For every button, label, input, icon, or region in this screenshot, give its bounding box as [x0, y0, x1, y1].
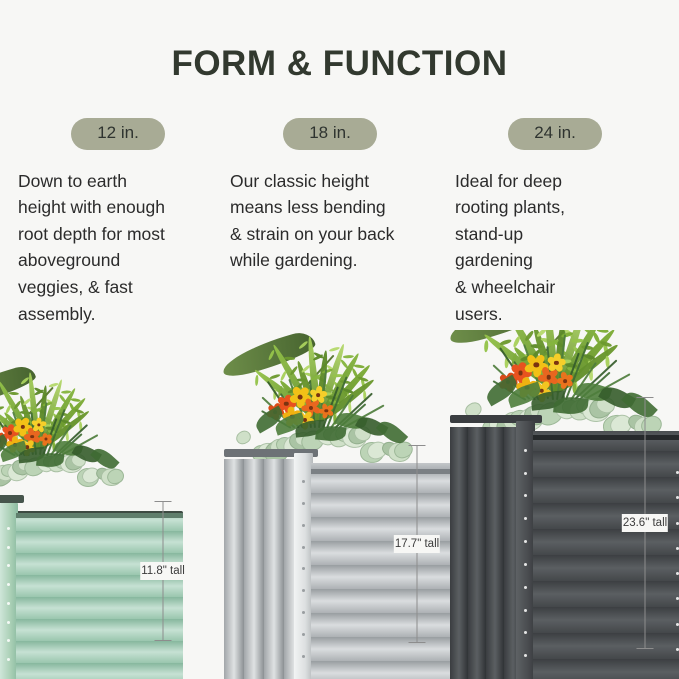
frond-leaflet: [292, 392, 300, 403]
frond-leaflet: [26, 405, 36, 411]
frond-leaflet: [32, 407, 42, 414]
ivy-leaf: [52, 453, 71, 471]
flower-center: [290, 415, 294, 419]
flower-petal: [509, 379, 518, 386]
frond-leaflet: [3, 418, 8, 428]
rivet-column-24in: [522, 421, 529, 679]
broad-leaf: [530, 390, 565, 410]
frond-leaflet: [300, 399, 309, 410]
frond-leaflet: [47, 429, 57, 435]
feature-column-18in: 18 in. Our classic height means less ben…: [230, 118, 430, 274]
frond-leaflet: [291, 385, 302, 390]
flower-petal: [303, 410, 313, 421]
grass-blade: [514, 361, 541, 401]
frond-leaflet: [525, 351, 538, 356]
frond-leaflet: [288, 397, 294, 408]
flower-petal: [302, 421, 308, 430]
flower-petal: [27, 445, 36, 453]
frond-leaflet: [593, 332, 602, 345]
flower-petal: [24, 434, 32, 441]
flower-petal: [32, 424, 41, 433]
frond-leaflet: [333, 380, 342, 391]
grass-blade: [499, 347, 536, 400]
flower-petal: [276, 395, 288, 406]
feature-column-12in: 12 in. Down to earth height with enough …: [18, 118, 218, 327]
banana-leaf: [0, 363, 39, 409]
frond-leaflet: [289, 366, 298, 377]
dimension-line-18in: 17.7" tall: [400, 445, 434, 643]
frond-leaflet: [38, 429, 48, 436]
flower-petal: [553, 353, 561, 363]
dimension-cap-bottom-24in: [637, 648, 654, 649]
frond-leaflet: [308, 393, 319, 401]
badge-wrap-24in: 24 in.: [455, 118, 655, 150]
broad-leaf: [0, 434, 10, 459]
flower-petal: [283, 403, 293, 414]
palm-frond: [542, 330, 560, 392]
frond-leaflet: [30, 424, 40, 431]
flower-center: [44, 438, 47, 441]
broad-leaf: [355, 412, 388, 440]
frond-leaflet: [540, 336, 553, 343]
frond-leaflet: [596, 330, 609, 333]
frond-leaflet: [303, 387, 314, 397]
frond-leaflet: [552, 373, 565, 380]
frond-leaflet: [267, 350, 275, 361]
flower-petal: [531, 388, 542, 398]
frond-leaflet: [48, 382, 58, 388]
flower-petal: [276, 401, 288, 412]
flower-petal: [7, 423, 16, 433]
flower-petal: [26, 428, 34, 437]
flower-petal: [541, 388, 552, 398]
flower-petal: [538, 374, 548, 382]
frond-leaflet: [315, 375, 326, 383]
leaf-stem: [543, 330, 575, 354]
frond-leaflet: [580, 345, 593, 350]
flower-center: [303, 418, 307, 422]
flower-petal: [14, 417, 25, 428]
frond-leaflet: [511, 352, 518, 365]
frond-leaflet: [46, 432, 54, 442]
flower-petal: [546, 356, 557, 366]
flower-petal: [0, 438, 1, 446]
palm-frond: [315, 350, 329, 421]
flower-petal: [541, 366, 552, 378]
frond-leaflet: [569, 374, 578, 387]
frond-leaflet: [354, 364, 365, 369]
flower-petal: [543, 378, 552, 389]
grass-blade: [579, 372, 610, 400]
flower-petal: [11, 430, 19, 436]
frond-leaflet: [60, 390, 70, 394]
dimension-line-12in: 11.8" tall: [146, 501, 180, 641]
frond-leaflet: [78, 421, 82, 431]
frond-leaflet: [362, 390, 366, 401]
badge-wrap-12in: 12 in.: [18, 118, 218, 150]
frond-leaflet: [342, 387, 354, 394]
broad-leaf: [91, 445, 120, 473]
flower-petal: [547, 375, 559, 386]
flower-petal: [20, 417, 31, 428]
flower-center: [37, 423, 40, 426]
flower-petal: [42, 439, 48, 447]
flower-petal: [523, 362, 537, 374]
feature-description-24in: Ideal for deep rooting plants, stand-up …: [455, 168, 655, 328]
frond-leaflet: [300, 363, 311, 373]
grass-blade: [561, 353, 580, 400]
frond-leaflet: [513, 335, 522, 348]
frond-leaflet: [21, 438, 26, 448]
planter-end-panel-24in: [450, 427, 524, 679]
grass-blade: [280, 393, 304, 428]
frond-leaflet: [32, 437, 42, 441]
flower-petal: [1, 431, 12, 441]
ivy-leaf: [11, 459, 32, 478]
frond-leaflet: [74, 408, 84, 414]
ivy-leaf: [0, 463, 16, 483]
frond-leaflet: [540, 370, 553, 377]
frond-leaflet: [526, 359, 535, 372]
rivet-column-18in: [300, 453, 307, 679]
palm-frond: [18, 394, 41, 450]
frond-leaflet: [15, 423, 22, 433]
palm-frond: [503, 330, 559, 394]
frond-leaflet: [581, 353, 590, 366]
flower-petal: [297, 410, 307, 421]
planter-box-18in: [222, 441, 472, 679]
frond-leaflet: [310, 373, 321, 381]
grass-blade: [326, 376, 347, 428]
flower-petal: [32, 434, 42, 443]
ivy-leaf: [94, 466, 112, 482]
flower-petal: [321, 403, 329, 412]
grass-blade: [493, 380, 527, 401]
grass-blade: [306, 391, 312, 428]
flower-petal: [295, 417, 305, 426]
frond-leaflet: [522, 364, 529, 377]
frond-leaflet: [328, 399, 340, 406]
flower-petal: [564, 373, 574, 383]
grass-blade: [57, 433, 82, 456]
frond-leaflet: [273, 389, 277, 400]
frond-leaflet: [600, 341, 613, 348]
flower-petal: [14, 443, 24, 453]
palm-frond: [27, 372, 41, 449]
flower-petal: [0, 433, 1, 442]
page-title: FORM & FUNCTION: [0, 44, 679, 84]
frond-leaflet: [8, 392, 18, 396]
flower-petal: [25, 439, 34, 449]
frond-leaflet: [565, 362, 578, 367]
flower-center: [540, 389, 545, 394]
grass-blade: [493, 364, 531, 400]
flower-petal: [322, 411, 329, 419]
flower-petal: [306, 408, 314, 418]
frond-leaflet: [25, 419, 35, 428]
palm-frond: [0, 400, 42, 451]
frond-leaflet: [565, 370, 576, 382]
frond-leaflet: [305, 401, 317, 408]
frond-leaflet: [65, 432, 69, 442]
frond-leaflet: [63, 425, 68, 435]
frond-leaflet: [346, 393, 352, 404]
flower-petal: [18, 445, 27, 453]
frond-leaflet: [562, 350, 574, 361]
flower-petal: [0, 432, 5, 441]
palm-frond: [39, 409, 91, 451]
flower-center: [534, 362, 539, 367]
flower-petal: [521, 369, 531, 377]
palm-frond: [295, 360, 321, 422]
frond-leaflet: [42, 434, 52, 443]
flower-petal: [8, 444, 17, 454]
broad-leaf: [0, 440, 28, 461]
frond-leaflet: [315, 405, 327, 411]
flower-center: [563, 379, 567, 383]
dimension-label-24in: 23.6" tall: [622, 514, 668, 532]
ivy-leaf: [80, 465, 103, 487]
dimension-label-18in: 17.7" tall: [394, 535, 440, 553]
palm-frond: [552, 330, 568, 392]
ivy-leaf: [69, 452, 87, 469]
flower-petal: [532, 366, 541, 378]
frond-leaflet: [13, 400, 21, 410]
flower-petal: [7, 433, 16, 443]
flower-petal: [310, 393, 320, 403]
frond-leaflet: [301, 396, 312, 401]
frond-leaflet: [11, 419, 21, 425]
flower-petal: [273, 403, 281, 413]
grass-blade: [584, 373, 631, 400]
flower-petal: [12, 424, 23, 434]
grass-blade: [318, 369, 327, 428]
height-badge-24in: 24 in.: [508, 118, 602, 150]
frond-leaflet: [536, 330, 548, 338]
feature-column-24in: 24 in. Ideal for deep rooting plants, st…: [455, 118, 655, 327]
flower-petal: [302, 405, 311, 412]
flower-petal: [297, 397, 305, 407]
grass-blade: [575, 360, 618, 400]
product-image-18in: 17.7" tall: [222, 335, 472, 679]
palm-frond: [306, 336, 322, 422]
flower-petal: [0, 438, 7, 444]
flower-petal: [325, 404, 334, 413]
flower-petal: [310, 405, 321, 415]
feature-description-18in: Our classic height means less bending & …: [230, 168, 430, 274]
flower-petal: [316, 394, 325, 404]
frond-leaflet: [559, 359, 572, 364]
flower-petal: [564, 379, 574, 388]
flower-petal: [290, 386, 302, 399]
palm-frond: [2, 411, 39, 451]
flower-petal: [315, 386, 322, 394]
grass-blade: [61, 434, 99, 456]
frond-leaflet: [317, 398, 328, 406]
frond-leaflet: [564, 330, 576, 338]
height-badge-18in: 18 in.: [283, 118, 377, 150]
frond-leaflet: [530, 348, 541, 360]
frond-leaflet: [360, 378, 366, 389]
frond-leaflet: [52, 413, 60, 423]
flower-petal: [289, 394, 301, 405]
flower-petal: [36, 417, 42, 425]
flower-center: [525, 385, 530, 390]
leaf-stem: [307, 355, 335, 386]
broad-leaf: [315, 424, 346, 442]
palm-frond: [270, 343, 320, 422]
flower-center: [13, 443, 17, 447]
product-image-12in: 11.8" tall: [0, 355, 183, 679]
grass-blade: [12, 411, 30, 456]
flower-petal: [519, 387, 531, 400]
grass-blade: [4, 424, 25, 456]
flower-petal: [11, 435, 19, 444]
frond-leaflet: [296, 378, 307, 382]
frond-leaflet: [332, 409, 338, 420]
ivy-leaf: [101, 467, 123, 487]
dimension-cap-bottom-12in: [155, 640, 172, 641]
flower-center: [518, 371, 523, 376]
palm-frond: [36, 385, 49, 449]
palm-frond: [553, 330, 589, 393]
flower-center: [20, 425, 24, 429]
frond-leaflet: [555, 366, 568, 375]
flower-petal: [522, 376, 531, 388]
frond-leaflet: [18, 415, 26, 425]
frond-leaflet: [572, 378, 579, 391]
frond-leaflet: [284, 357, 295, 361]
flower-petal: [291, 409, 303, 420]
flower-petal: [505, 382, 514, 392]
leaf-stem: [28, 387, 53, 415]
frond-leaflet: [60, 419, 70, 425]
flower-center: [0, 439, 2, 442]
broad-leaf: [253, 405, 286, 433]
flower-petal: [287, 406, 295, 416]
frond-leaflet: [308, 399, 319, 403]
frond-leaflet: [567, 367, 580, 374]
frond-leaflet: [504, 355, 509, 368]
palm-frond: [317, 363, 372, 423]
grass-blade: [570, 362, 597, 400]
frond-leaflet: [520, 354, 533, 361]
frond-leaflet: [12, 428, 17, 438]
grass-blade: [267, 381, 300, 428]
frond-leaflet: [0, 406, 5, 412]
frond-leaflet: [547, 338, 560, 347]
flower-center: [25, 446, 29, 450]
grass-blade: [289, 379, 308, 428]
product-photo-row: 11.8" tall: [0, 330, 679, 679]
broad-leaf: [335, 409, 368, 433]
flower-petal: [45, 438, 53, 446]
frond-leaflet: [553, 355, 566, 362]
flower-petal: [282, 412, 292, 420]
broad-leaf: [18, 447, 46, 463]
frond-leaflet: [312, 354, 323, 362]
ivy-leaf: [352, 424, 373, 443]
frond-leaflet: [43, 416, 53, 425]
palm-frond: [530, 330, 559, 393]
dimension-cap-top-24in: [637, 397, 654, 398]
flower-center: [546, 375, 551, 380]
ivy-leaf: [42, 455, 57, 468]
ivy-leaf: [59, 453, 84, 475]
frond-leaflet: [340, 380, 351, 385]
grass-blade: [309, 380, 316, 428]
frond-leaflet: [326, 395, 337, 400]
ivy-leaf: [17, 458, 33, 472]
flower-center: [325, 409, 328, 412]
ivy-leaf: [46, 451, 72, 476]
frond-leaflet: [254, 375, 258, 386]
ivy-leaf: [0, 468, 2, 485]
feature-columns: 12 in. Down to earth height with enough …: [0, 118, 679, 338]
ivy-leaf: [322, 427, 339, 442]
flower-petal: [41, 432, 48, 440]
ivy-leaf: [20, 454, 47, 480]
palm-frond: [554, 330, 604, 394]
flower-petal: [39, 421, 47, 428]
grass-blade: [50, 425, 71, 456]
flower-petal: [31, 429, 41, 439]
frond-leaflet: [580, 330, 591, 334]
flower-center: [273, 410, 277, 414]
frond-leaflet: [68, 402, 75, 412]
frond-leaflet: [23, 430, 31, 440]
frond-leaflet: [70, 398, 80, 402]
frond-leaflet: [536, 364, 549, 369]
flower-center: [31, 435, 35, 439]
flower-center: [298, 394, 303, 399]
flower-petal: [310, 399, 321, 410]
flower-petal: [24, 448, 30, 456]
palm-frond: [511, 344, 557, 394]
flower-center: [554, 361, 558, 365]
grass-blade: [31, 412, 37, 455]
flower-petal: [283, 393, 293, 404]
flower-petal: [22, 424, 33, 433]
flower-petal: [517, 361, 528, 373]
flower-center: [316, 393, 320, 397]
palm-frond: [482, 332, 560, 396]
broad-leaf: [506, 382, 543, 408]
frond-leaflet: [42, 401, 52, 407]
frond-leaflet: [321, 392, 332, 396]
flower-petal: [538, 392, 545, 402]
frond-leaflet: [573, 346, 584, 358]
flower-petal: [525, 385, 538, 398]
frond-leaflet: [312, 351, 323, 359]
palm-frond: [316, 352, 361, 423]
grass-blade: [556, 334, 566, 400]
flower-petal: [305, 417, 315, 426]
flower-center: [284, 402, 288, 406]
flower-petal: [14, 438, 24, 447]
grass-blade: [343, 404, 385, 428]
flower-petal: [547, 361, 558, 372]
frond-leaflet: [23, 398, 33, 407]
flower-petal: [267, 404, 277, 414]
frond-leaflet: [315, 389, 327, 395]
palm-frond: [318, 377, 375, 424]
frond-leaflet: [48, 435, 55, 445]
broad-leaf: [54, 438, 84, 459]
rivet-column-12in: [5, 503, 12, 679]
frond-leaflet: [332, 374, 343, 378]
ivy-leaf: [63, 450, 87, 474]
